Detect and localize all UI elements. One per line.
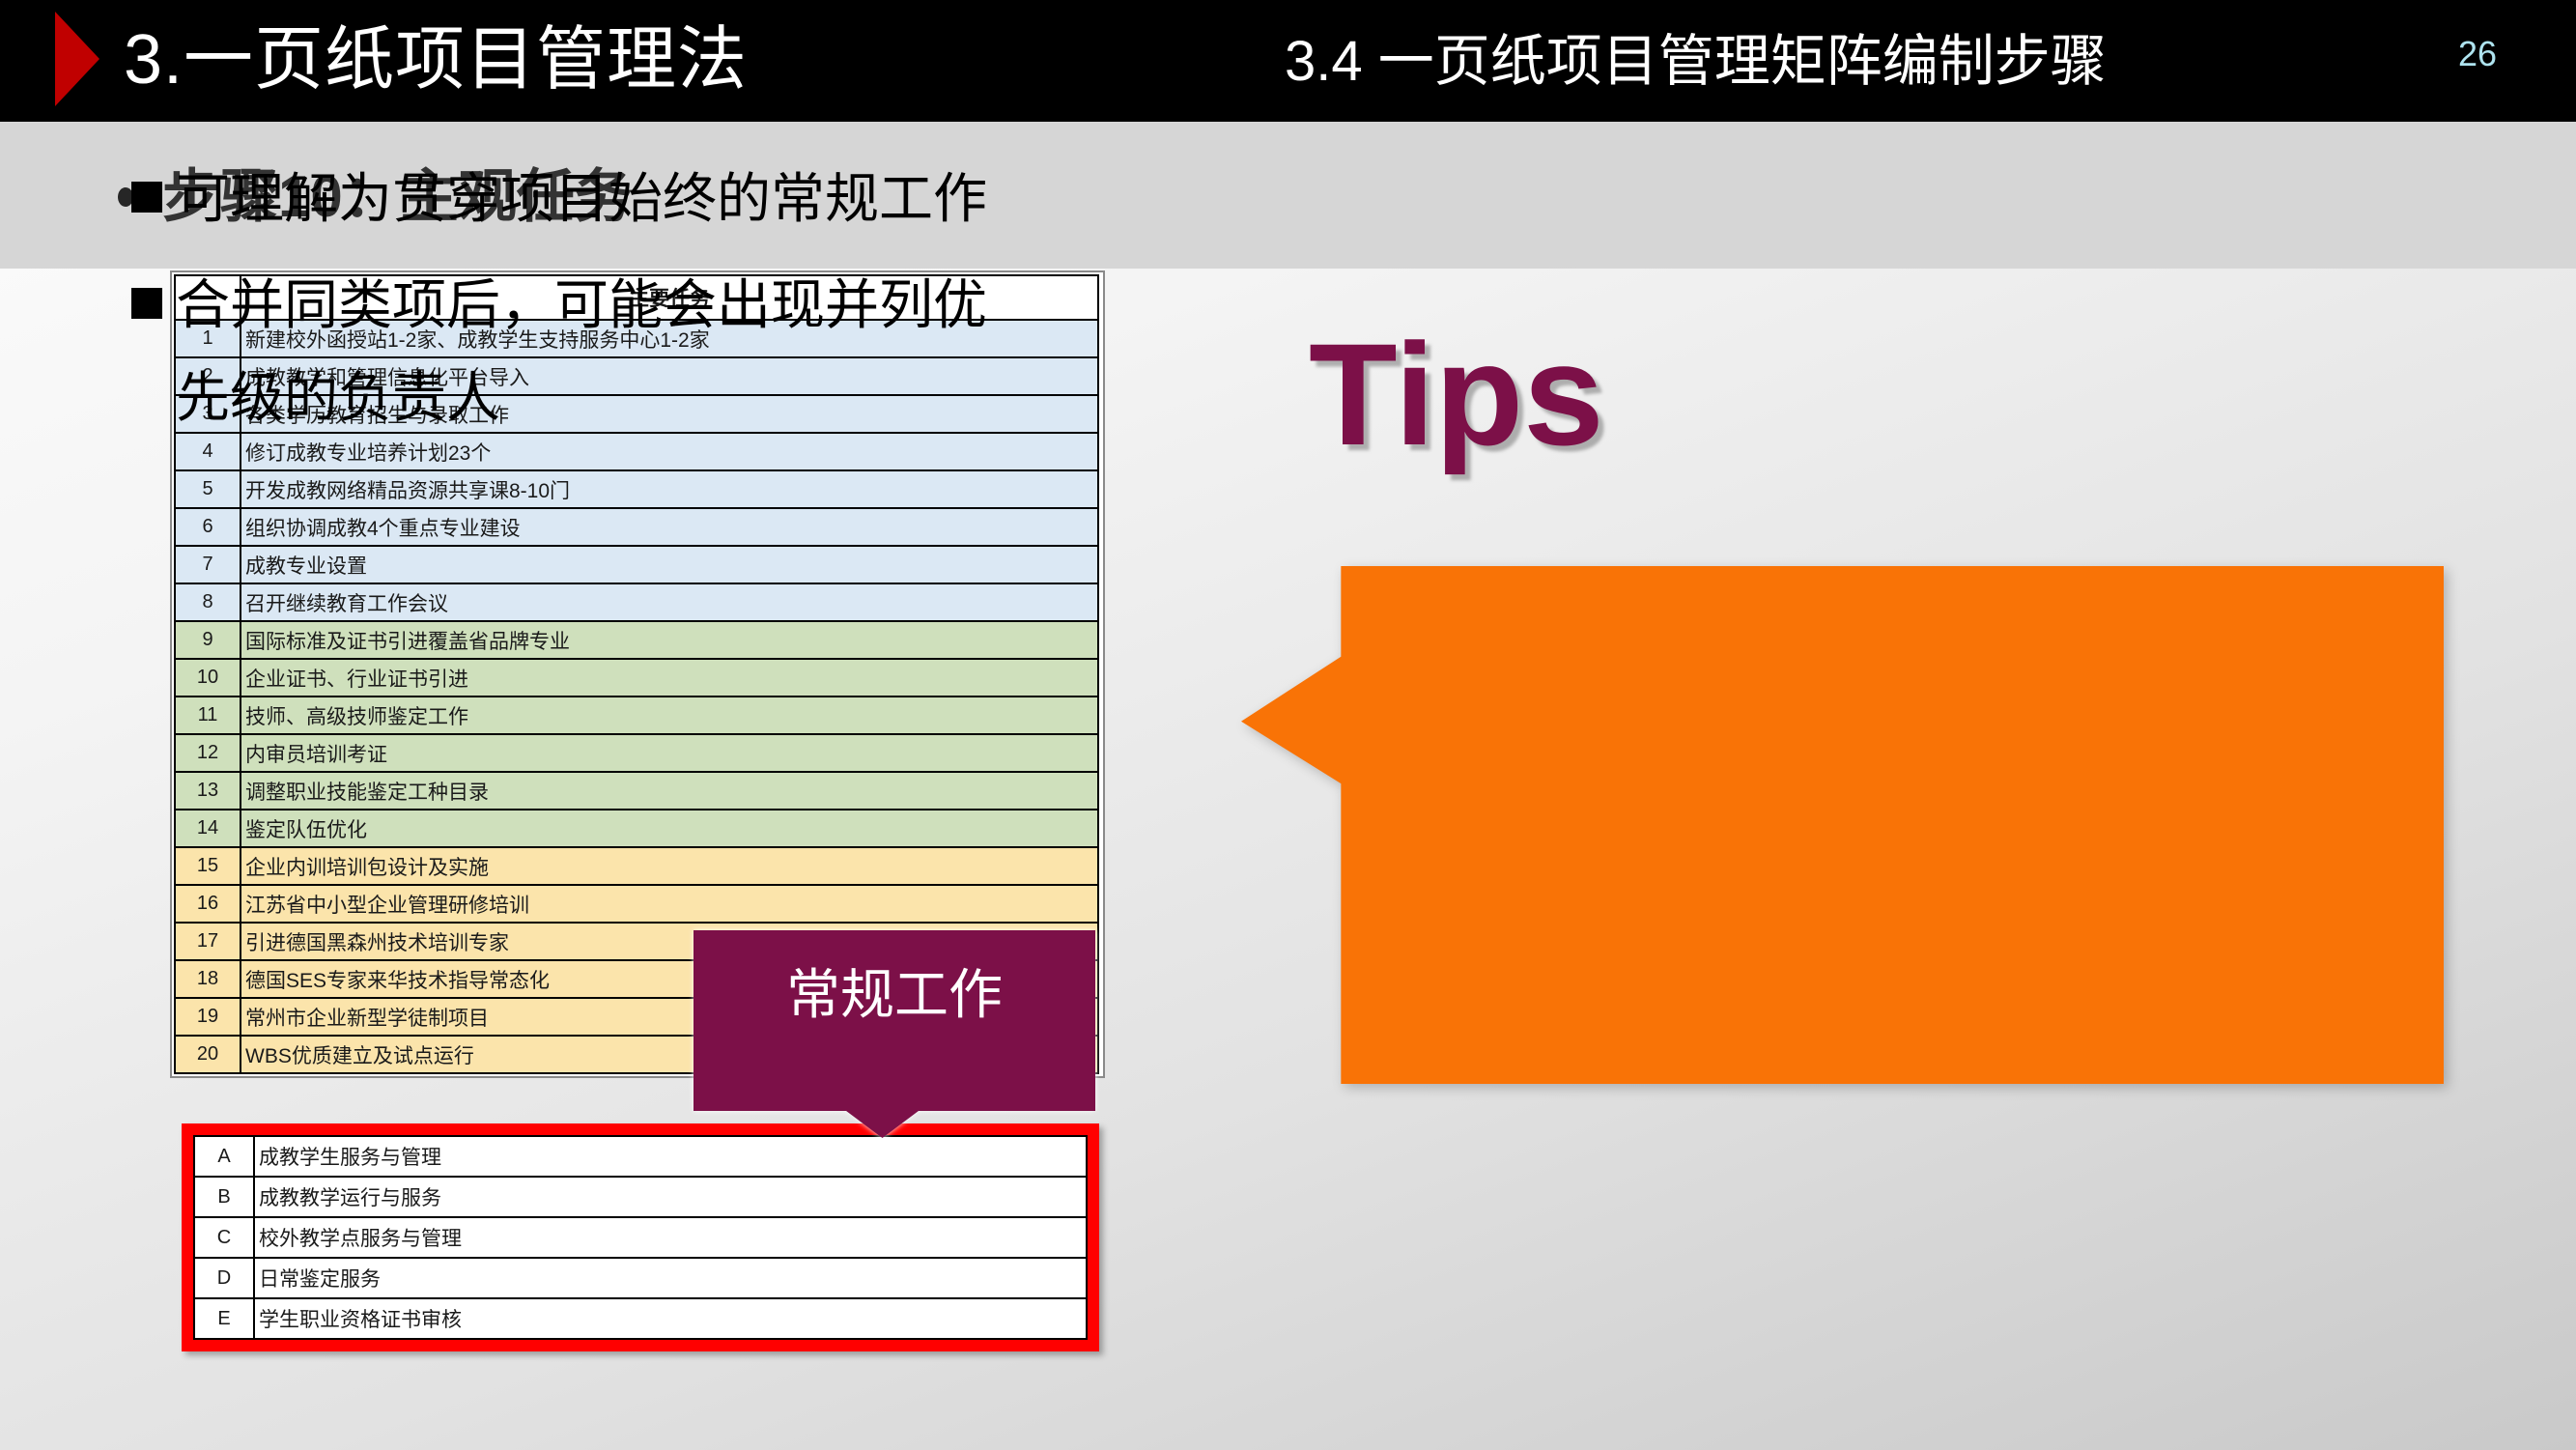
row-task: 校外教学点服务与管理 — [254, 1217, 1087, 1258]
row-task: 开发成教网络精品资源共享课8-10门 — [241, 470, 1098, 508]
row-index: 6 — [175, 508, 241, 546]
row-index: 10 — [175, 659, 241, 697]
slide-canvas: 3.一页纸项目管理法 3.4 一页纸项目管理矩阵编制步骤 26 步骤10：主观任… — [0, 0, 2576, 1450]
row-task: 国际标准及证书引进覆盖省品牌专业 — [241, 621, 1098, 659]
table-row: 12内审员培训考证 — [175, 734, 1098, 772]
row-task: 调整职业技能鉴定工种目录 — [241, 772, 1098, 810]
table-row: 6组织协调成教4个重点专业建设 — [175, 508, 1098, 546]
table-row: 5开发成教网络精品资源共享课8-10门 — [175, 470, 1098, 508]
row-task: 技师、高级技师鉴定工作 — [241, 697, 1098, 734]
row-index: 8 — [175, 583, 241, 621]
row-task: 召开继续教育工作会议 — [241, 583, 1098, 621]
row-index: C — [194, 1217, 254, 1258]
row-index: 19 — [175, 998, 241, 1036]
row-index: E — [194, 1298, 254, 1339]
routine-task-table: A成教学生服务与管理B成教教学运行与服务C校外教学点服务与管理D日常鉴定服务E学… — [182, 1123, 1099, 1351]
table-row: 11技师、高级技师鉴定工作 — [175, 697, 1098, 734]
tips-callout-box — [1241, 566, 2444, 1084]
row-task: 企业证书、行业证书引进 — [241, 659, 1098, 697]
table-row: A成教学生服务与管理 — [194, 1136, 1087, 1177]
table-row: 13调整职业技能鉴定工种目录 — [175, 772, 1098, 810]
row-task: 江苏省中小型企业管理研修培训 — [241, 885, 1098, 923]
table-row: C校外教学点服务与管理 — [194, 1217, 1087, 1258]
table-row: E学生职业资格证书审核 — [194, 1298, 1087, 1339]
filled-square-icon — [131, 182, 162, 213]
tips-bullet-text: 可理解为贯穿项目始终的常规工作 — [176, 153, 987, 245]
tips-callout-shape — [1241, 566, 2444, 1084]
row-index: 13 — [175, 772, 241, 810]
row-task: 成教学生服务与管理 — [254, 1136, 1087, 1177]
filled-square-icon — [131, 288, 162, 319]
row-index: 20 — [175, 1036, 241, 1073]
table-row: 16江苏省中小型企业管理研修培训 — [175, 885, 1098, 923]
table-row: D日常鉴定服务 — [194, 1258, 1087, 1298]
table-row: 7成教专业设置 — [175, 546, 1098, 583]
header-section-title: 3.一页纸项目管理法 — [124, 8, 748, 112]
table-row: 8召开继续教育工作会议 — [175, 583, 1098, 621]
row-task: 内审员培训考证 — [241, 734, 1098, 772]
row-index: D — [194, 1258, 254, 1298]
table-row: B成教教学运行与服务 — [194, 1177, 1087, 1217]
row-index: A — [194, 1136, 254, 1177]
tips-bullet-item: 可理解为贯穿项目始终的常规工作 — [131, 153, 2543, 245]
regular-work-callout: 常规工作 — [694, 930, 1095, 1138]
row-task: 成教专业设置 — [241, 546, 1098, 583]
row-index: 12 — [175, 734, 241, 772]
row-index: 17 — [175, 923, 241, 960]
row-task: 鉴定队伍优化 — [241, 810, 1098, 847]
row-index: 11 — [175, 697, 241, 734]
table-row: 9国际标准及证书引进覆盖省品牌专业 — [175, 621, 1098, 659]
row-index: 15 — [175, 847, 241, 885]
row-task: 企业内训培训包设计及实施 — [241, 847, 1098, 885]
table-row: 15企业内训培训包设计及实施 — [175, 847, 1098, 885]
row-index: 5 — [175, 470, 241, 508]
tips-bullet-text: 合并同类项后，可能会出现并列优 先级的负责人 — [176, 259, 987, 444]
row-index: 9 — [175, 621, 241, 659]
row-task: 日常鉴定服务 — [254, 1258, 1087, 1298]
sub-task-table: A成教学生服务与管理B成教教学运行与服务C校外教学点服务与管理D日常鉴定服务E学… — [193, 1135, 1088, 1340]
row-task: 成教教学运行与服务 — [254, 1177, 1087, 1217]
page-number: 26 — [2458, 31, 2497, 77]
callout-label: 常规工作 — [694, 961, 1095, 1029]
tips-bullet-item: 合并同类项后，可能会出现并列优 先级的负责人 — [131, 259, 2543, 444]
row-index: 18 — [175, 960, 241, 998]
row-index: 14 — [175, 810, 241, 847]
row-index: 16 — [175, 885, 241, 923]
header-subsection-title: 3.4 一页纸项目管理矩阵编制步骤 — [1285, 19, 2107, 104]
table-row: 14鉴定队伍优化 — [175, 810, 1098, 847]
row-task: 学生职业资格证书审核 — [254, 1298, 1087, 1339]
row-index: 7 — [175, 546, 241, 583]
row-index: B — [194, 1177, 254, 1217]
table-row: 10企业证书、行业证书引进 — [175, 659, 1098, 697]
slide-header-bar: 3.一页纸项目管理法 3.4 一页纸项目管理矩阵编制步骤 26 — [0, 0, 2576, 122]
row-task: 组织协调成教4个重点专业建设 — [241, 508, 1098, 546]
red-arrow-icon — [55, 12, 99, 106]
